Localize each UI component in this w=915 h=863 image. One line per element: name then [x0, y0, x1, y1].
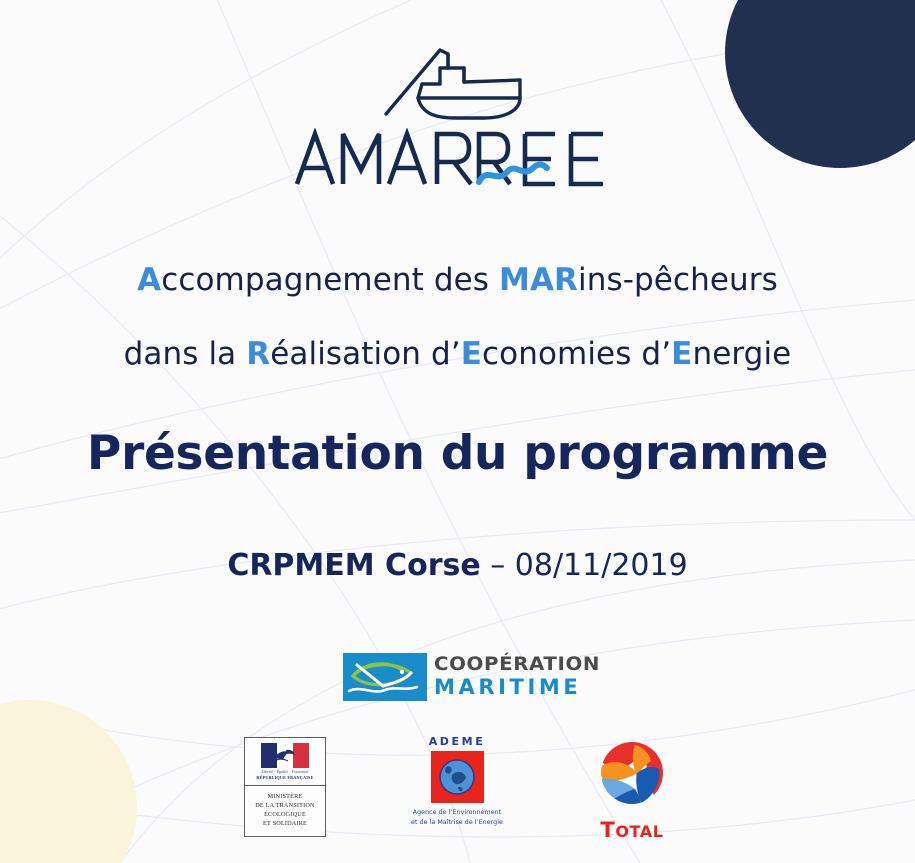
blue-wave-squiggle	[479, 165, 547, 182]
ministry-name-line: DE LA TRANSITION	[255, 802, 314, 811]
acronym-2-run-4: conomies d’	[482, 336, 671, 372]
acronym-1-run-3: ins-pêcheurs	[578, 262, 778, 298]
ministry-name: MINISTÈRE DE LA TRANSITION ÉCOLOGIQUE ET…	[245, 786, 325, 836]
coop-maritime-logo: COOPÉRATION MARITIME	[343, 653, 594, 701]
acronym-2-run-3: E	[461, 336, 482, 372]
amarree-logo	[0, 42, 915, 190]
total-wordmark: TOTAL	[586, 818, 678, 842]
ministry-name-line: MINISTÈRE	[268, 793, 303, 802]
presentation-slide: Accompagnement des MARins-pêcheurs dans …	[0, 0, 915, 863]
fishing-boat-icon	[378, 42, 538, 122]
subtitle-separator: –	[481, 548, 515, 583]
ministry-devise: Liberté · Égalité · Fraternité	[262, 770, 309, 774]
subtitle-date: 08/11/2019	[515, 548, 688, 583]
acronym-2-run-1: R	[246, 336, 270, 372]
total-word-first: T	[600, 818, 615, 842]
acronym-2-run-0: dans la	[124, 336, 247, 372]
ademe-name: ADEME	[405, 735, 509, 748]
acronym-1-run-0: A	[137, 262, 161, 298]
total-sphere-icon	[595, 739, 669, 811]
subtitle-organization: CRPMEM Corse	[227, 548, 480, 583]
acronym-line-2: dans la Réalisation d’Economies d’Energi…	[0, 336, 915, 372]
ministry-name-line: ET SOLIDAIRE	[263, 820, 307, 829]
coop-maritime-line1: COOPÉRATION	[434, 655, 600, 674]
ministry-name-line: ÉCOLOGIQUE	[264, 811, 306, 820]
ademe-square	[431, 751, 484, 803]
ademe-tagline-line2: et de la Maîtrise de l’Energie	[405, 818, 509, 828]
amarree-wordmark	[293, 128, 623, 190]
acronym-1-run-2: MAR	[499, 262, 578, 298]
ademe-tagline: Agence de l’Environnement et de la Maîtr…	[405, 808, 509, 828]
acronym-line-1: Accompagnement des MARins-pêcheurs	[0, 262, 915, 298]
subtitle: CRPMEM Corse – 08/11/2019	[0, 548, 915, 583]
fish-icon	[343, 653, 427, 701]
acronym-2-run-2: éalisation d’	[270, 336, 461, 372]
ademe-logo: ADEME Agence de l’Environnement et de la…	[405, 735, 509, 828]
globe-icon	[438, 758, 476, 796]
acronym-2-run-6: nergie	[692, 336, 791, 372]
republique-francaise-block: Liberté · Égalité · Fraternité RÉPUBLIQU…	[245, 738, 325, 786]
total-word-rest: OTAL	[615, 822, 663, 841]
acronym-2-run-5: E	[671, 336, 692, 372]
coop-maritime-line2: MARITIME	[434, 676, 594, 698]
french-flag-icon	[261, 743, 309, 768]
ministry-republique: RÉPUBLIQUE FRANÇAISE	[256, 775, 313, 780]
partner-logos-row: Liberté · Égalité · Fraternité RÉPUBLIQU…	[0, 735, 915, 845]
page-title: Présentation du programme	[0, 426, 915, 481]
acronym-1-run-1: ccompagnement des	[161, 262, 499, 298]
total-logo: TOTAL	[586, 739, 678, 842]
ademe-tagline-line1: Agence de l’Environnement	[405, 808, 509, 818]
ministry-logo: Liberté · Égalité · Fraternité RÉPUBLIQU…	[244, 737, 326, 837]
